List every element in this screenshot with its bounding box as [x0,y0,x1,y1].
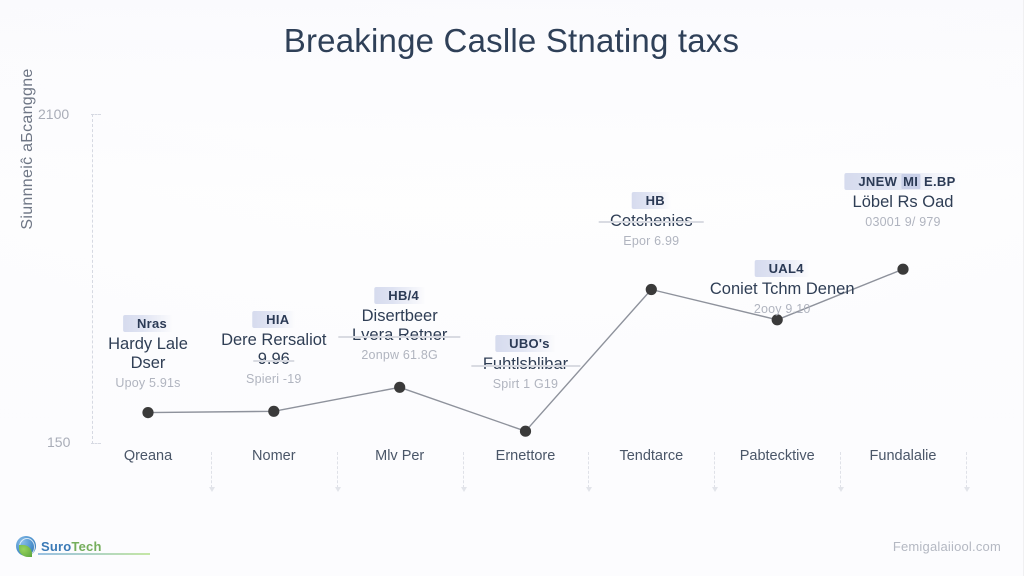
annotation-subtext: Spieri -19 [221,372,326,386]
category-separator [840,452,841,488]
annotation-badge: JNEW MI E.BP [844,173,961,190]
annotation-badge: UBO's [495,335,556,352]
data-point-annotation: NrasHardy LaleDserUpoy 5.91s [108,315,188,390]
x-axis-label: Ernettore [496,448,556,464]
data-point-annotation: UAL4Coniet Tchm Denen2ooy 9.10 [710,260,855,316]
leaf-icon [19,545,32,557]
y-axis-title: Siunnneiĉ aБcanggne [19,0,37,299]
annotation-badge: HB [632,192,671,209]
annotation-subtext: Upoy 5.91s [108,376,188,390]
y-axis-line [92,114,93,444]
x-axis-label: Qreana [124,448,172,464]
y-axis-tick-bottom [91,443,101,444]
annotation-subtext: Spirt 1 G19 [483,377,568,391]
y-axis-tick-label-bottom: 150 [47,434,70,450]
data-point[interactable] [772,314,783,325]
chart-title: Breakinge Caslle Stnating taxs [0,22,1023,60]
y-axis-tick-top [91,114,101,115]
chart-canvas: Breakinge Caslle Stnating taxs 2100 150 … [0,0,1024,576]
category-separator [966,452,967,488]
annotation-headline: Fuhtlsblibar [483,355,568,374]
category-separator [211,452,212,488]
data-point-annotation: UBO'sFuhtlsblibarSpirt 1 G19 [483,335,568,391]
data-point-annotation: HBCotcheniesEpor 6.99 [610,192,693,248]
category-separator [714,452,715,488]
data-point-annotation: HB/4DisertbeerLvera Retner2onpw 61.8G [352,287,447,362]
x-axis-label: Pabtecktive [740,448,815,464]
annotation-headline: DisertbeerLvera Retner [352,307,447,345]
data-point-annotation: HIADere Rersaliot9.96Spieri -19 [221,311,326,386]
annotation-badge: UAL4 [755,260,810,277]
data-point[interactable] [897,264,908,275]
annotation-subtext: 2onpw 61.8G [352,348,447,362]
logo-underline [38,553,150,555]
annotation-headline: Hardy LaleDser [108,335,188,373]
category-separator [463,452,464,488]
footer-url: Femigalaiiool.com [893,539,1001,554]
x-axis-label: Nomer [252,448,296,464]
annotation-subtext: 03001 9/ 979 [844,215,961,229]
x-axis-label: Tendtarce [619,448,683,464]
background-wash [0,0,1023,576]
data-point[interactable] [646,284,657,295]
globe-icon [16,536,36,556]
data-point[interactable] [142,407,153,418]
x-axis-label: Mlv Per [375,448,424,464]
x-axis-label: Fundalalie [870,448,937,464]
annotation-badge: HIA [252,311,295,328]
line-series [0,0,1024,576]
data-point[interactable] [268,406,279,417]
category-separator [588,452,589,488]
annotation-headline: Cotchenies [610,212,693,231]
brand-logo: SuroTech [16,536,102,556]
annotation-subtext: 2ooy 9.10 [710,302,855,316]
annotation-badge: HB/4 [374,287,425,304]
logo-wordmark: SuroTech [41,539,102,554]
category-separator [337,452,338,488]
data-point-annotation: JNEW MI E.BPLöbel Rs Oad03001 9/ 979 [844,173,961,229]
data-point[interactable] [520,426,531,437]
annotation-headline: Dere Rersaliot9.96 [221,331,326,369]
data-point[interactable] [394,382,405,393]
annotation-badge: Nras [123,315,173,332]
y-axis-tick-label-top: 2100 [38,106,69,122]
annotation-headline: Löbel Rs Oad [844,193,961,212]
annotation-headline: Coniet Tchm Denen [710,280,855,299]
annotation-subtext: Epor 6.99 [610,234,693,248]
